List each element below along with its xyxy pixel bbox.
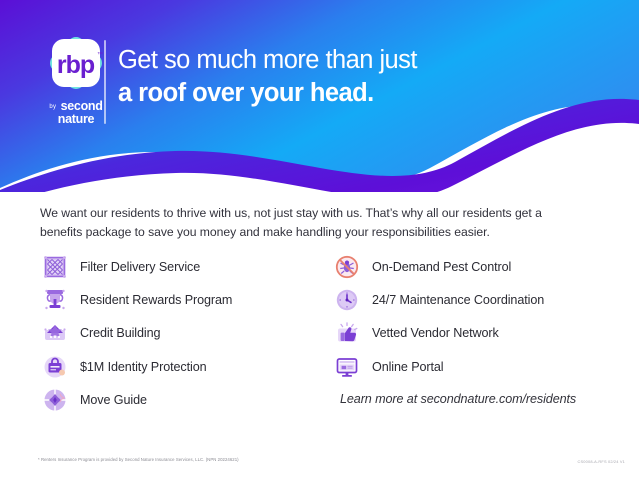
- benefit-item-move-guide: Move Guide: [40, 384, 330, 417]
- identity-briefcase-icon: [40, 352, 70, 382]
- benefit-label: Move Guide: [80, 393, 147, 407]
- thumbs-up-icon: [332, 318, 362, 348]
- logo-by-text: by: [49, 104, 56, 110]
- benefit-item-identity-protection: $1M Identity Protection: [40, 350, 330, 383]
- intro-paragraph: We want our residents to thrive with us,…: [40, 204, 600, 241]
- monitor-icon: [332, 352, 362, 382]
- air-filter-icon: [40, 252, 70, 282]
- benefit-label: Credit Building: [80, 326, 160, 340]
- learn-more-link[interactable]: Learn more at secondnature.com/residents: [340, 392, 622, 406]
- logo-brand-line1: second: [61, 99, 103, 113]
- benefit-label: Filter Delivery Service: [80, 260, 200, 274]
- rbp-logo-subtext: by second nature: [33, 98, 119, 126]
- compass-icon: [40, 385, 70, 415]
- rbp-badge-icon: rbp ™: [42, 36, 110, 98]
- benefit-item-filter-delivery-service: Filter Delivery Service: [40, 250, 330, 283]
- no-pest-icon: [332, 252, 362, 282]
- benefit-label: Resident Rewards Program: [80, 293, 232, 307]
- benefits-column-right: On-Demand Pest Control 24/7 Maintenance …: [332, 250, 622, 406]
- logo-brand-line2: nature: [33, 113, 119, 126]
- benefit-label: 24/7 Maintenance Coordination: [372, 293, 544, 307]
- benefit-item-vetted-vendor-network: Vetted Vendor Network: [332, 317, 622, 350]
- intro-line-1: We want our residents to thrive with us,…: [40, 204, 600, 223]
- benefits-column-left: Filter Delivery Service Resident Rewards…: [40, 250, 330, 417]
- headline-line-2: a roof over your head.: [118, 77, 417, 110]
- benefit-label: On-Demand Pest Control: [372, 260, 511, 274]
- flyer-page: rbp ™ by second nature Get so much more …: [0, 0, 639, 480]
- credit-score-icon: [40, 318, 70, 348]
- clock-icon: [332, 285, 362, 315]
- rbp-logo: rbp ™ by second nature: [33, 36, 119, 126]
- benefit-item-pest-control: On-Demand Pest Control: [332, 250, 622, 283]
- svg-text:rbp: rbp: [57, 51, 95, 79]
- benefit-label: Vetted Vendor Network: [372, 326, 499, 340]
- benefit-item-online-portal: Online Portal: [332, 350, 622, 383]
- trophy-icon: [40, 285, 70, 315]
- svg-text:™: ™: [97, 51, 103, 58]
- document-code: CS0008-A-RFS 02/24 V1: [578, 459, 625, 464]
- logo-divider: [104, 40, 106, 124]
- footnote-disclaimer: * Renters Insurance Program is provided …: [38, 457, 239, 462]
- headline: Get so much more than just a roof over y…: [118, 44, 417, 110]
- benefit-item-resident-rewards-program: Resident Rewards Program: [40, 283, 330, 316]
- benefit-label: Online Portal: [372, 360, 444, 374]
- intro-line-2: benefits package to save you money and m…: [40, 223, 600, 242]
- headline-line-1: Get so much more than just: [118, 44, 417, 77]
- benefit-item-credit-building: Credit Building: [40, 317, 330, 350]
- benefit-item-maintenance-coordination: 24/7 Maintenance Coordination: [332, 283, 622, 316]
- benefit-label: $1M Identity Protection: [80, 360, 207, 374]
